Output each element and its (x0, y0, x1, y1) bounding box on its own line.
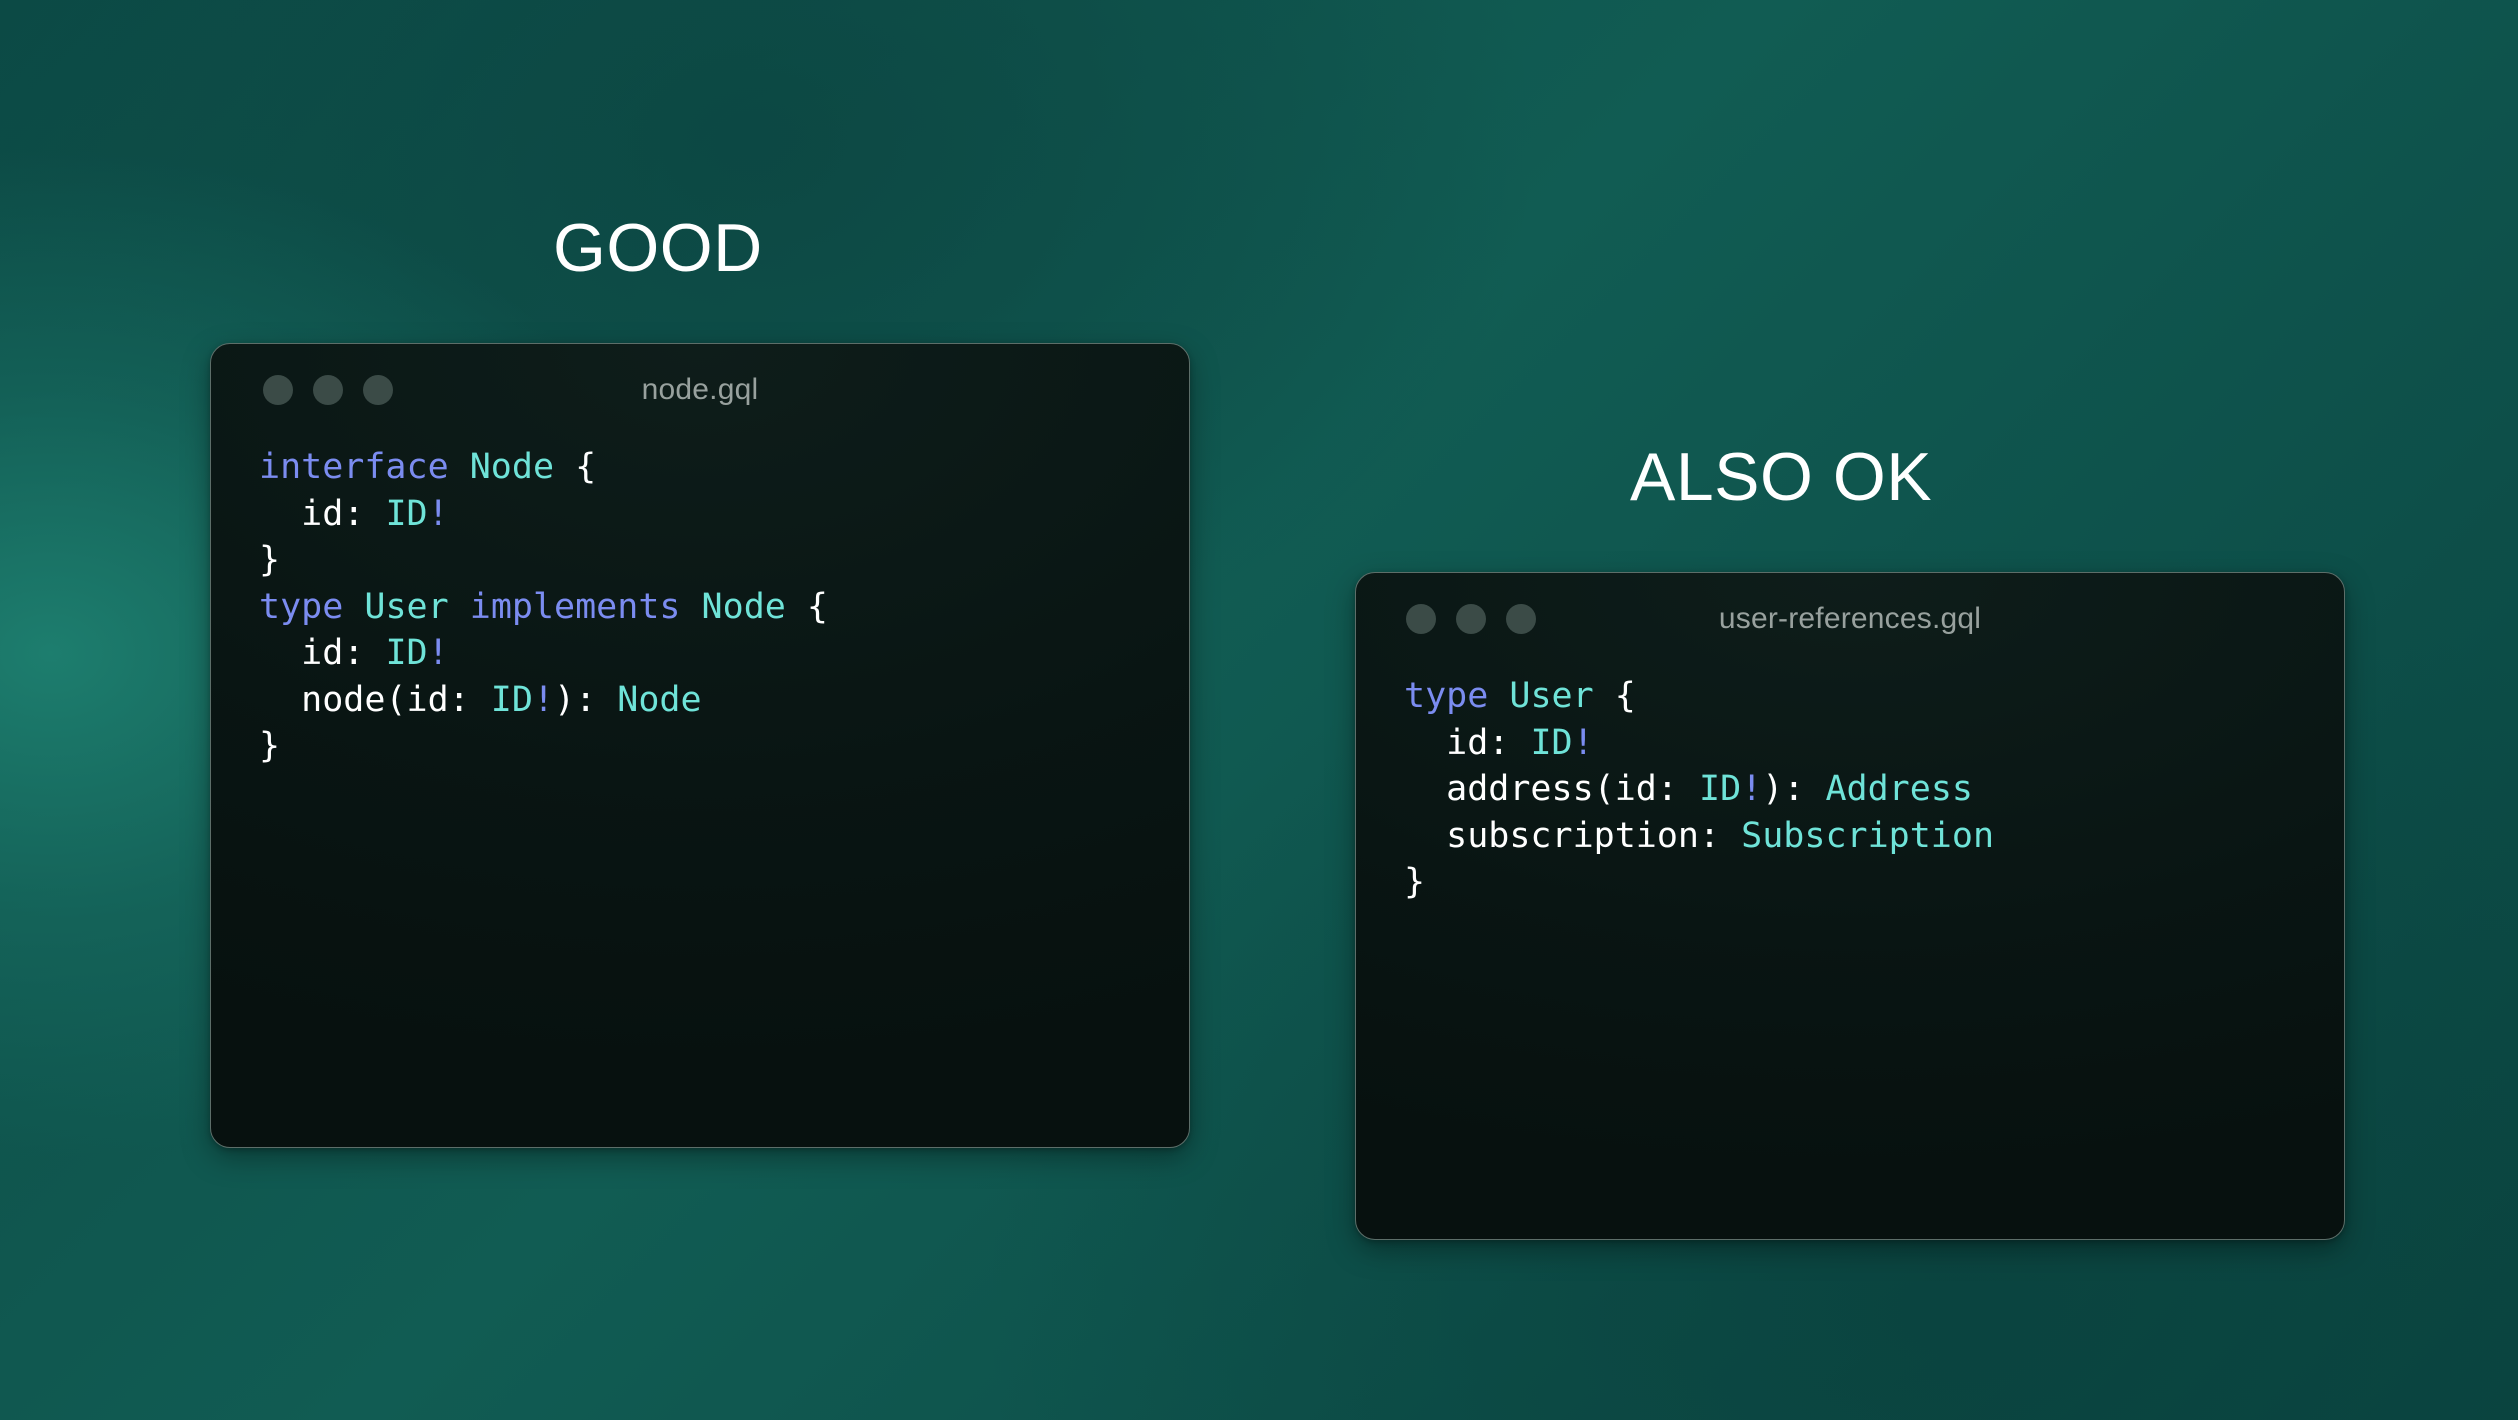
code-line: type User implements Node { (259, 584, 1189, 631)
window-dot-close-icon[interactable] (263, 375, 293, 405)
code-token-type: Node (702, 587, 786, 627)
code-token-kw: interface (259, 447, 449, 487)
window-dot-minimize-icon[interactable] (1456, 604, 1486, 634)
code-window-good: node.gql interface Node { id: ID!}type U… (210, 343, 1190, 1148)
code-block-also-ok: type User { id: ID! address(id: ID!): Ad… (1356, 665, 2344, 906)
code-token-plain: id: (1404, 723, 1530, 763)
window-titlebar: node.gql (211, 344, 1189, 436)
code-line: id: ID! (259, 491, 1189, 538)
code-line: } (259, 723, 1189, 770)
code-token-type: User (364, 587, 448, 627)
code-line: } (259, 537, 1189, 584)
code-token-type: ID (385, 494, 427, 534)
code-token-plain (449, 447, 470, 487)
code-token-type: ID (1699, 769, 1741, 809)
code-token-bang: ! (1741, 769, 1762, 809)
code-line: } (1404, 859, 2344, 906)
code-token-punct: { (1594, 676, 1636, 716)
code-token-type: User (1509, 676, 1593, 716)
code-line: id: ID! (259, 630, 1189, 677)
code-token-punct: } (1404, 862, 1425, 902)
code-token-type: Node (617, 680, 701, 720)
code-token-punct: { (786, 587, 828, 627)
window-dot-close-icon[interactable] (1406, 604, 1436, 634)
code-token-bang: ! (533, 680, 554, 720)
code-token-type: ID (385, 633, 427, 673)
code-token-plain: ): (554, 680, 617, 720)
panel-heading-also-ok: ALSO OK (1630, 443, 1932, 511)
code-token-bang: ! (428, 494, 449, 534)
code-token-type: ID (491, 680, 533, 720)
code-line: subscription: Subscription (1404, 813, 2344, 860)
code-token-punct: } (259, 540, 280, 580)
code-token-kw: type (259, 587, 343, 627)
code-line: interface Node { (259, 444, 1189, 491)
code-token-type: Subscription (1741, 816, 1994, 856)
code-token-plain: node(id: (259, 680, 491, 720)
code-token-plain: id: (259, 494, 385, 534)
window-dot-minimize-icon[interactable] (313, 375, 343, 405)
code-token-plain (449, 587, 470, 627)
code-line: address(id: ID!): Address (1404, 766, 2344, 813)
code-token-plain: id: (259, 633, 385, 673)
code-token-plain: ): (1762, 769, 1825, 809)
code-line: type User { (1404, 673, 2344, 720)
panel-heading-good: GOOD (553, 214, 763, 282)
code-token-bang: ! (428, 633, 449, 673)
code-line: id: ID! (1404, 720, 2344, 767)
code-token-bang: ! (1573, 723, 1594, 763)
code-line: node(id: ID!): Node (259, 677, 1189, 724)
code-token-plain: subscription: (1404, 816, 1741, 856)
code-token-type: Address (1825, 769, 1973, 809)
code-block-good: interface Node { id: ID!}type User imple… (211, 436, 1189, 770)
diagram-canvas: GOOD node.gql interface Node { id: ID!}t… (0, 0, 2518, 1420)
code-token-plain (343, 587, 364, 627)
code-token-plain: address(id: (1404, 769, 1699, 809)
code-token-plain (680, 587, 701, 627)
window-traffic-lights (1406, 604, 1536, 634)
code-token-kw: implements (470, 587, 681, 627)
code-window-also-ok: user-references.gql type User { id: ID! … (1355, 572, 2345, 1240)
code-token-type: Node (470, 447, 554, 487)
window-titlebar: user-references.gql (1356, 573, 2344, 665)
window-dot-maximize-icon[interactable] (363, 375, 393, 405)
code-token-kw: type (1404, 676, 1488, 716)
code-token-punct: } (259, 726, 280, 766)
code-token-plain (1488, 676, 1509, 716)
window-traffic-lights (263, 375, 393, 405)
code-token-type: ID (1530, 723, 1572, 763)
code-token-punct: { (554, 447, 596, 487)
window-dot-maximize-icon[interactable] (1506, 604, 1536, 634)
